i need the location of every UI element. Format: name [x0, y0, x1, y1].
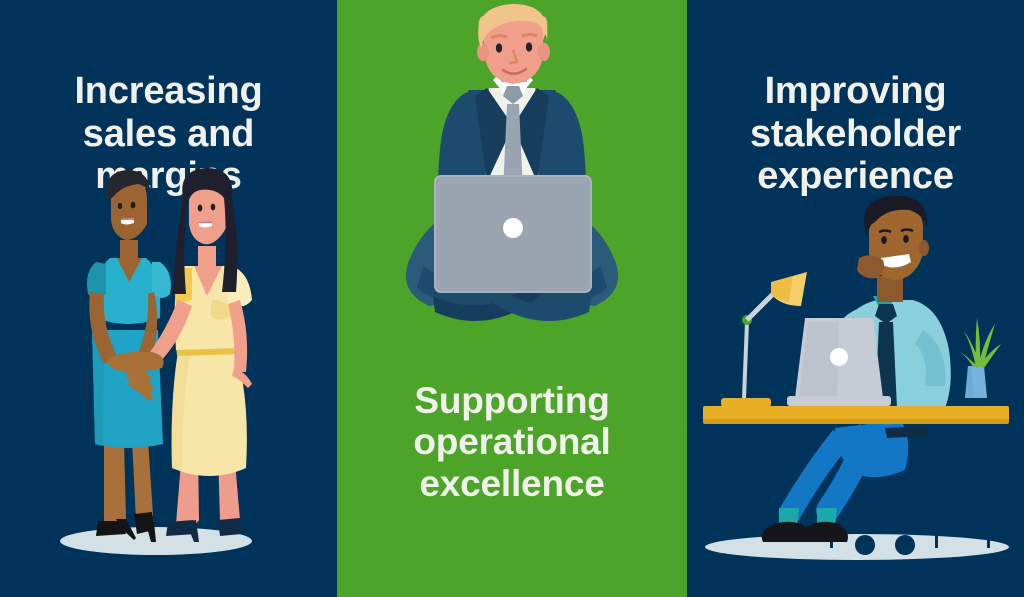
- man-eye-left: [496, 43, 502, 52]
- man2-hip: [835, 420, 908, 477]
- floor-shadow-ellipse: [60, 527, 252, 555]
- headline-line-2: stakeholder: [701, 113, 1010, 156]
- man-shoe-left: [437, 265, 486, 293]
- woman-yellow-bodice: [175, 266, 241, 350]
- woman-yellow-leg-right: [218, 450, 240, 532]
- woman-yellow-sleeve-left: [175, 268, 192, 304]
- woman-teal-heel-right: [146, 522, 156, 542]
- panel-increasing-sales-and-margins: Increasing sales and margins: [0, 0, 337, 597]
- woman-teal-lip: [121, 218, 134, 220]
- man-nose: [509, 50, 517, 63]
- man2-eyebrow-right: [901, 230, 913, 232]
- headline-line-2: sales and: [14, 113, 323, 156]
- woman-teal-vneck: [117, 258, 142, 282]
- plant-leaf-2: [976, 318, 981, 368]
- man2-shirt: [837, 300, 951, 424]
- page-title-left: Increasing sales and margins: [0, 70, 337, 198]
- man2-ear: [919, 240, 929, 256]
- woman-yellow-shoe-right: [218, 518, 242, 536]
- laptop-lid-edge: [435, 176, 591, 292]
- man2-eyebrow-left: [879, 231, 891, 233]
- woman-teal-bodice: [96, 258, 160, 324]
- woman-yellow-hand-right: [232, 368, 252, 388]
- plant-leaf-4: [979, 344, 1001, 368]
- woman-yellow-eye-left: [198, 205, 203, 212]
- woman-yellow-eye-right: [211, 204, 216, 211]
- three-panel-slide: Increasing sales and margins: [0, 0, 1024, 597]
- man-hair-sideburn-left: [479, 16, 487, 40]
- desk-laptop-keyboard: [787, 396, 891, 406]
- desk-surface: [703, 406, 1009, 423]
- woman-yellow-vneck: [194, 266, 222, 296]
- man2-shoe-front: [800, 522, 848, 542]
- floor-shadow-cutout-1: [855, 535, 875, 555]
- man-sock-left: [461, 260, 489, 282]
- man2-sock-front: [817, 508, 837, 528]
- man-suit-arm-right: [557, 92, 586, 240]
- man2-neck: [877, 276, 903, 302]
- man2-sock-back: [779, 508, 799, 528]
- handshake-clasp: [108, 352, 164, 372]
- man-shirt-collar: [493, 72, 533, 104]
- man2-hair: [864, 196, 927, 238]
- man-tie: [503, 104, 523, 202]
- laptop-logo-icon: [503, 218, 523, 238]
- man2-arm-lower: [807, 344, 863, 402]
- man-leg-right-thigh: [519, 190, 618, 306]
- man-ear-right: [538, 43, 550, 61]
- floor-shadow-notch-1: [830, 534, 833, 548]
- man2-hand-at-chin: [857, 255, 884, 278]
- headline-line-3: excellence: [351, 463, 673, 504]
- woman-teal-sleeve-right: [152, 262, 171, 298]
- man2-collar: [873, 296, 895, 318]
- man2-eye-right: [903, 235, 909, 243]
- plant-leaf-1: [963, 330, 977, 368]
- woman-teal-eye-right: [131, 202, 136, 209]
- desk-edge: [703, 419, 1009, 424]
- man2-face: [869, 202, 923, 280]
- page-title-middle: Supporting operational excellence: [337, 380, 687, 504]
- man-mouth: [503, 69, 526, 74]
- handshake-finger-3: [128, 379, 154, 401]
- woman-yellow-dress: [150, 168, 252, 542]
- lamp-shade-shade: [771, 276, 793, 302]
- plant-pot: [965, 366, 987, 398]
- floor-shadow-notch-3: [987, 534, 990, 548]
- man2-leg-front: [816, 424, 883, 518]
- floor-shadow-notch-2: [935, 534, 938, 548]
- woman-yellow-arm-left: [150, 300, 192, 364]
- headline-line-1: Increasing: [14, 70, 323, 113]
- lamp-shade: [771, 272, 807, 306]
- plant-leaf-5: [955, 348, 977, 368]
- plant-pot-shade: [965, 366, 974, 398]
- man-eyebrow-right: [522, 35, 537, 37]
- chair-seat: [885, 426, 929, 438]
- woman-teal-leg-left: [104, 440, 126, 530]
- man-eye-right: [526, 42, 532, 51]
- man-neck: [501, 52, 527, 82]
- man-crossed-leg-front-left: [433, 282, 541, 321]
- man2-eye-left: [881, 236, 887, 244]
- woman-teal-leg-right: [132, 440, 153, 528]
- headline-line-2: operational: [351, 421, 673, 462]
- headline-line-3: experience: [701, 155, 1010, 198]
- woman-teal-heel-left: [116, 519, 136, 540]
- laptop-lid: [435, 176, 591, 292]
- handshake-finger-2: [126, 372, 154, 393]
- illustration-man-sitting-cross-legged-with-laptop: [337, 0, 687, 597]
- man-tie-knot: [503, 86, 523, 104]
- man-hair-sideburn-right: [539, 16, 547, 40]
- man-suit-body: [453, 90, 571, 244]
- woman-teal-eye-left: [118, 203, 122, 209]
- man-shirt: [485, 88, 538, 200]
- woman-teal-skirt: [92, 330, 163, 448]
- woman-yellow-bodice-fold: [210, 300, 234, 320]
- man-shin-right: [501, 266, 607, 307]
- man2-arm-right-back: [915, 330, 946, 386]
- woman-yellow-heel-left: [186, 520, 199, 542]
- floor-shadow-cutout-2: [895, 535, 915, 555]
- woman-teal-shoe-right: [134, 512, 154, 534]
- panel-improving-stakeholder-experience: Improving stakeholder experience: [687, 0, 1024, 597]
- page-title-right: Improving stakeholder experience: [687, 70, 1024, 198]
- woman-teal-arm-left: [89, 292, 118, 364]
- woman-yellow-leg-left: [176, 450, 199, 532]
- lamp-arm: [747, 288, 779, 320]
- woman-teal-sleeve-left: [87, 262, 106, 298]
- man2-hand-on-laptop: [821, 383, 855, 402]
- floor-shadow-ellipse: [705, 534, 1009, 560]
- desk-laptop-logo-icon: [830, 348, 848, 366]
- man-lapel-left: [475, 88, 513, 182]
- man-shoe-right: [537, 265, 586, 293]
- man2-smile: [881, 254, 911, 268]
- man2-arm-upper: [831, 306, 877, 348]
- woman-teal-dress: [87, 170, 171, 542]
- handshake: [108, 352, 164, 401]
- man-shin-left: [417, 266, 523, 307]
- man-suit-arm-left: [438, 92, 467, 240]
- woman-yellow-skirt: [172, 352, 247, 476]
- woman-yellow-neck: [198, 246, 216, 274]
- woman-teal-smile: [121, 218, 134, 225]
- desk-laptop-lid: [795, 318, 883, 398]
- headline-line-1: Supporting: [351, 380, 673, 421]
- man2-tie-knot: [875, 304, 897, 324]
- man2-shoe-back: [762, 522, 810, 542]
- man-hair: [478, 4, 547, 48]
- panel-supporting-operational-excellence: Supporting operational excellence: [337, 0, 687, 597]
- man-lapel-right: [513, 88, 549, 182]
- man-crossed-leg-front-right: [483, 282, 591, 321]
- lamp-pole: [744, 322, 747, 398]
- woman-teal-neck: [120, 240, 138, 266]
- plant-leaf-3: [978, 324, 995, 366]
- headline-line-1: Improving: [701, 70, 1010, 113]
- man-face: [483, 6, 543, 84]
- woman-yellow-belt: [176, 344, 241, 356]
- woman-yellow-skirt-shade: [172, 352, 190, 470]
- man-sock-right: [533, 260, 561, 282]
- man-ear-left: [477, 43, 489, 61]
- man2-tie: [875, 322, 897, 418]
- desk-laptop-lid-shade: [799, 322, 839, 398]
- lamp-joint-icon: [742, 315, 752, 325]
- woman-yellow-smile: [199, 221, 212, 228]
- headline-line-3: margins: [14, 155, 323, 198]
- handshake-finger-1: [124, 366, 152, 383]
- woman-teal-arm-right: [136, 292, 157, 362]
- woman-yellow-sleeve-right: [228, 268, 252, 307]
- man2-leg-back: [778, 430, 855, 520]
- man-eyebrow-left: [491, 36, 507, 38]
- woman-yellow-lip: [199, 221, 212, 223]
- woman-teal-shoe-left: [96, 521, 126, 536]
- woman-yellow-shoe-left: [166, 520, 196, 536]
- woman-yellow-arm-right: [228, 300, 247, 372]
- man-leg-left-thigh: [406, 190, 505, 306]
- woman-teal-skirt-shade: [92, 330, 104, 446]
- lamp-base: [721, 398, 771, 407]
